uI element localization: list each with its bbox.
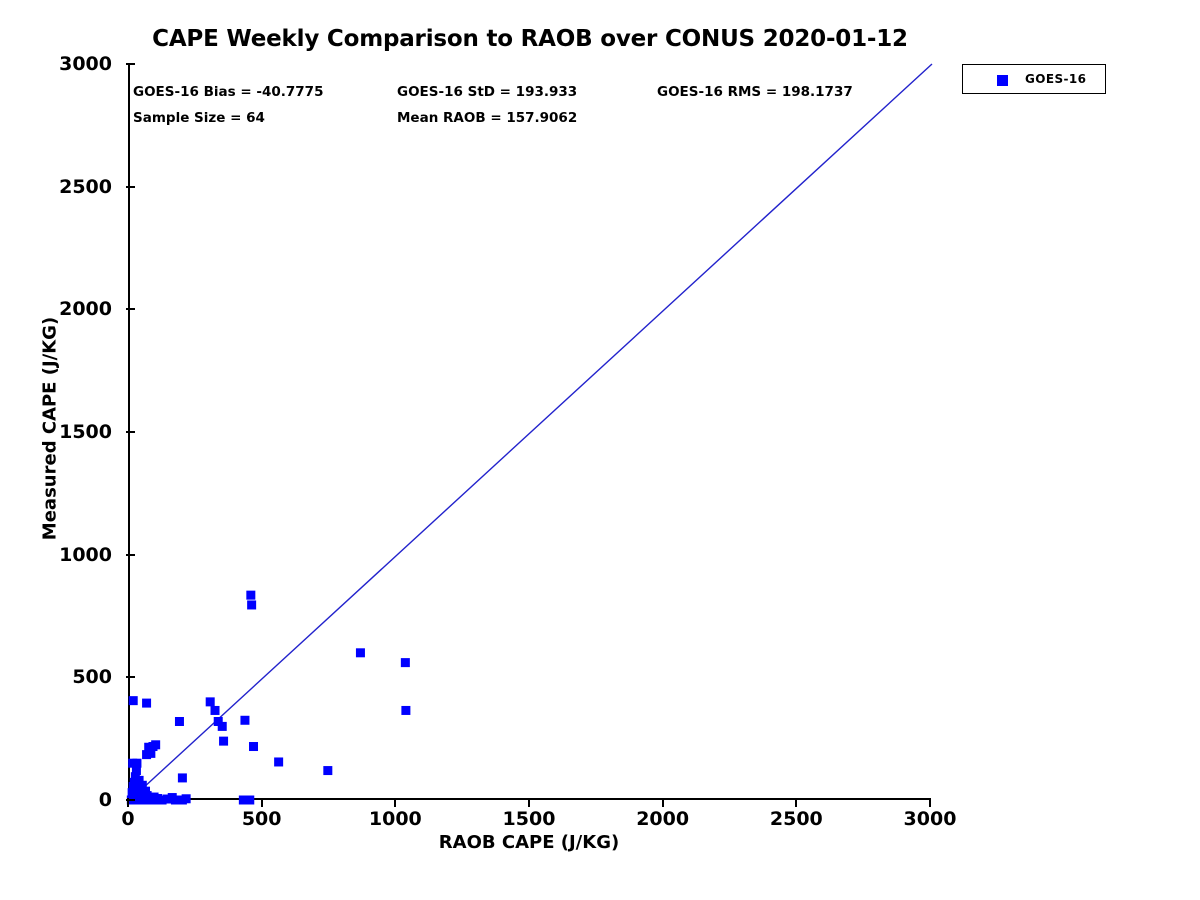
data-point-marker bbox=[129, 696, 138, 705]
y-tick-mark bbox=[126, 63, 135, 65]
x-tick-mark bbox=[662, 798, 664, 807]
data-point-marker bbox=[356, 648, 365, 657]
data-point-marker bbox=[323, 766, 332, 775]
x-tick-label: 2000 bbox=[636, 808, 689, 830]
y-tick-mark bbox=[126, 431, 135, 433]
x-tick-mark bbox=[394, 798, 396, 807]
stat-std: GOES-16 StD = 193.933 bbox=[397, 84, 577, 100]
x-tick-mark bbox=[261, 798, 263, 807]
data-point-marker bbox=[240, 716, 249, 725]
data-point-marker bbox=[206, 697, 215, 706]
x-tick-label: 500 bbox=[242, 808, 282, 830]
data-point-marker bbox=[132, 766, 141, 775]
stat-bias: GOES-16 Bias = -40.7775 bbox=[133, 84, 323, 100]
legend-label-goes-16: GOES-16 bbox=[1025, 72, 1086, 86]
x-tick-mark bbox=[528, 798, 530, 807]
data-point-marker bbox=[245, 796, 254, 805]
data-point-marker bbox=[246, 591, 255, 600]
data-point-marker bbox=[182, 794, 191, 803]
data-point-marker bbox=[141, 787, 150, 796]
stat-mean-raob: Mean RAOB = 157.9062 bbox=[397, 110, 577, 126]
data-point-marker bbox=[274, 757, 283, 766]
data-point-marker bbox=[153, 794, 162, 803]
data-point-marker bbox=[249, 742, 258, 751]
y-tick-mark bbox=[126, 799, 135, 801]
data-point-marker bbox=[401, 658, 410, 667]
x-tick-label: 2500 bbox=[770, 808, 823, 830]
x-tick-mark bbox=[929, 798, 931, 807]
y-tick-mark bbox=[126, 186, 135, 188]
data-point-marker bbox=[178, 773, 187, 782]
y-tick-mark bbox=[126, 554, 135, 556]
data-point-marker bbox=[401, 706, 410, 715]
data-point-marker bbox=[168, 793, 177, 802]
data-point-marker bbox=[211, 706, 220, 715]
chart-title: CAPE Weekly Comparison to RAOB over CONU… bbox=[0, 26, 1060, 52]
chart-figure: CAPE Weekly Comparison to RAOB over CONU… bbox=[0, 0, 1200, 900]
data-point-marker bbox=[142, 699, 151, 708]
y-tick-mark bbox=[126, 308, 135, 310]
x-tick-label: 1000 bbox=[369, 808, 422, 830]
y-tick-mark bbox=[126, 676, 135, 678]
one-to-one-reference-line bbox=[130, 64, 932, 800]
data-point-marker bbox=[151, 740, 160, 749]
x-tick-label: 1500 bbox=[503, 808, 556, 830]
data-point-marker bbox=[175, 717, 184, 726]
data-point-marker bbox=[219, 737, 228, 746]
data-point-marker bbox=[218, 722, 227, 731]
x-tick-mark bbox=[795, 798, 797, 807]
x-tick-label: 0 bbox=[121, 808, 134, 830]
x-tick-label: 3000 bbox=[904, 808, 957, 830]
legend-swatch-goes-16 bbox=[997, 75, 1008, 86]
stat-sample-size: Sample Size = 64 bbox=[133, 110, 265, 126]
data-points-group bbox=[127, 591, 411, 805]
scatter-plot-canvas bbox=[130, 64, 932, 800]
chart-legend[interactable]: GOES-16 bbox=[962, 64, 1106, 94]
y-axis-label: Measured CAPE (J/KG) bbox=[40, 49, 61, 809]
data-point-marker bbox=[247, 600, 256, 609]
plot-area bbox=[128, 64, 930, 800]
stat-rms: GOES-16 RMS = 198.1737 bbox=[657, 84, 853, 100]
x-axis-label: RAOB CAPE (J/KG) bbox=[128, 832, 930, 853]
